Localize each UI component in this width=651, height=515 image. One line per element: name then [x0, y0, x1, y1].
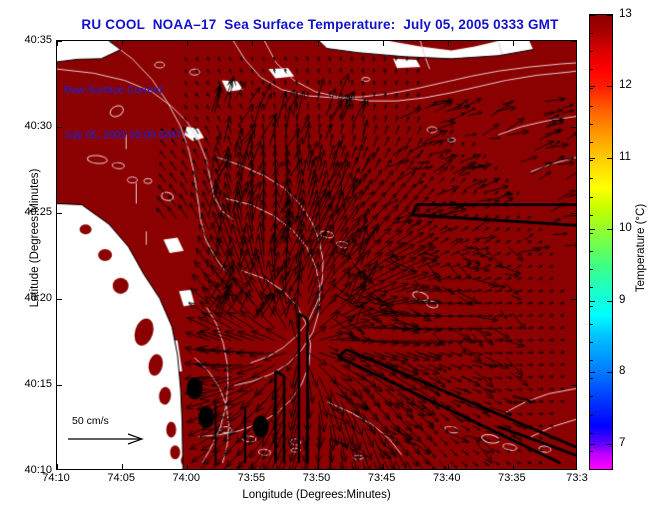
x-tick — [57, 464, 58, 469]
colorbar-minor-tick — [590, 160, 593, 161]
colorbar-tick — [590, 301, 595, 302]
colorbar-minor-tick — [590, 251, 593, 252]
y-tick — [57, 41, 62, 42]
y-tick-label: 40:35 — [8, 34, 52, 46]
y-tick — [57, 127, 62, 128]
x-tick-label: 73:40 — [433, 472, 461, 484]
x-tick-label: 74:00 — [173, 472, 201, 484]
surface-current-annotation: Raw Surface Current July 05, 2005 03:00 … — [64, 53, 182, 173]
x-tick — [383, 464, 384, 469]
colorbar-minor-tick — [590, 88, 593, 89]
colorbar-minor-tick — [590, 342, 593, 343]
colorbar-minor-tick — [590, 306, 593, 307]
x-tick — [122, 464, 123, 469]
colorbar-minor-tick — [590, 51, 593, 52]
colorbar-tick — [590, 444, 595, 445]
right-arrow-icon — [66, 431, 166, 447]
figure-window: RU COOL NOAA–17 Sea Surface Temperature:… — [0, 0, 651, 515]
colorbar-minor-tick — [590, 396, 593, 397]
x-tick-label: 74:05 — [107, 472, 135, 484]
colorbar-minor-tick — [590, 451, 593, 452]
x-tick — [318, 464, 319, 469]
y-tick — [571, 299, 576, 300]
x-tick — [252, 41, 253, 46]
colorbar-minor-tick — [590, 33, 593, 34]
colorbar-minor-tick — [590, 433, 593, 434]
y-tick — [571, 127, 576, 128]
quiver-key-label: 50 cm/s — [72, 415, 109, 427]
map-axes[interactable]: Raw Surface Current July 05, 2005 03:00 … — [56, 40, 577, 470]
y-tick — [571, 385, 576, 386]
x-tick — [187, 464, 188, 469]
colorbar-tick-label: 11 — [619, 151, 631, 163]
colorbar-minor-tick — [590, 215, 593, 216]
y-tick-label: 40:10 — [8, 464, 52, 476]
x-tick-label: 73:35 — [498, 472, 526, 484]
colorbar-tick-label: 12 — [619, 79, 632, 91]
y-tick — [571, 213, 576, 214]
colorbar-tick-label: 9 — [619, 294, 625, 306]
colorbar-minor-tick — [590, 142, 593, 143]
colorbar-minor-tick — [590, 469, 593, 470]
x-tick-label: 73:55 — [238, 472, 266, 484]
colorbar-minor-tick — [590, 178, 593, 179]
colorbar-tick — [607, 301, 612, 302]
x-tick — [122, 41, 123, 46]
y-tick — [57, 213, 62, 214]
x-tick — [513, 41, 514, 46]
colorbar-minor-tick — [590, 197, 593, 198]
y-tick-label: 40:15 — [8, 378, 52, 390]
y-axis-title: Latitude (Degrees:Minutes) — [29, 108, 41, 368]
colorbar-minor-tick — [590, 360, 593, 361]
x-tick-label: 73:45 — [368, 472, 396, 484]
colorbar-tick — [607, 158, 612, 159]
x-axis-title: Longitude (Degrees:Minutes) — [56, 489, 577, 501]
y-tick — [57, 299, 62, 300]
colorbar-tick — [590, 372, 595, 373]
colorbar-minor-tick — [590, 415, 593, 416]
colorbar-tick — [607, 86, 612, 87]
colorbar-tick-label: 10 — [619, 222, 632, 234]
x-tick — [448, 41, 449, 46]
colorbar-tick — [590, 158, 595, 159]
x-tick-label: 73:50 — [303, 472, 331, 484]
colorbar-minor-tick — [590, 124, 593, 125]
colorbar-title: Temperature (°C) — [635, 168, 647, 328]
colorbar-tick — [607, 15, 612, 16]
y-tick — [57, 385, 62, 386]
colorbar-minor-tick — [590, 287, 593, 288]
x-tick-label: 73:3 — [566, 472, 587, 484]
temperature-colorbar[interactable] — [589, 14, 613, 470]
x-tick — [513, 464, 514, 469]
x-tick — [318, 41, 319, 46]
x-tick — [448, 464, 449, 469]
colorbar-minor-tick — [590, 378, 593, 379]
x-tick — [252, 464, 253, 469]
annotation-line-2: July 05, 2005 03:00 GMT — [64, 128, 182, 143]
x-tick — [383, 41, 384, 46]
colorbar-minor-tick — [590, 106, 593, 107]
colorbar-minor-tick — [590, 15, 593, 16]
colorbar-tick — [590, 229, 595, 230]
annotation-line-1: Raw Surface Current — [64, 83, 182, 98]
colorbar-minor-tick — [590, 233, 593, 234]
colorbar-minor-tick — [590, 324, 593, 325]
x-tick — [187, 41, 188, 46]
figure-title: RU COOL NOAA–17 Sea Surface Temperature:… — [0, 17, 640, 32]
colorbar-tick — [607, 444, 612, 445]
colorbar-tick-label: 13 — [619, 8, 632, 20]
colorbar-tick — [607, 229, 612, 230]
colorbar-tick — [607, 372, 612, 373]
y-tick — [571, 41, 576, 42]
quiver-scale-key: 50 cm/s — [66, 415, 176, 451]
colorbar-minor-tick — [590, 69, 593, 70]
colorbar-tick-label: 7 — [619, 437, 625, 449]
colorbar-tick-label: 8 — [619, 365, 625, 377]
colorbar-minor-tick — [590, 269, 593, 270]
